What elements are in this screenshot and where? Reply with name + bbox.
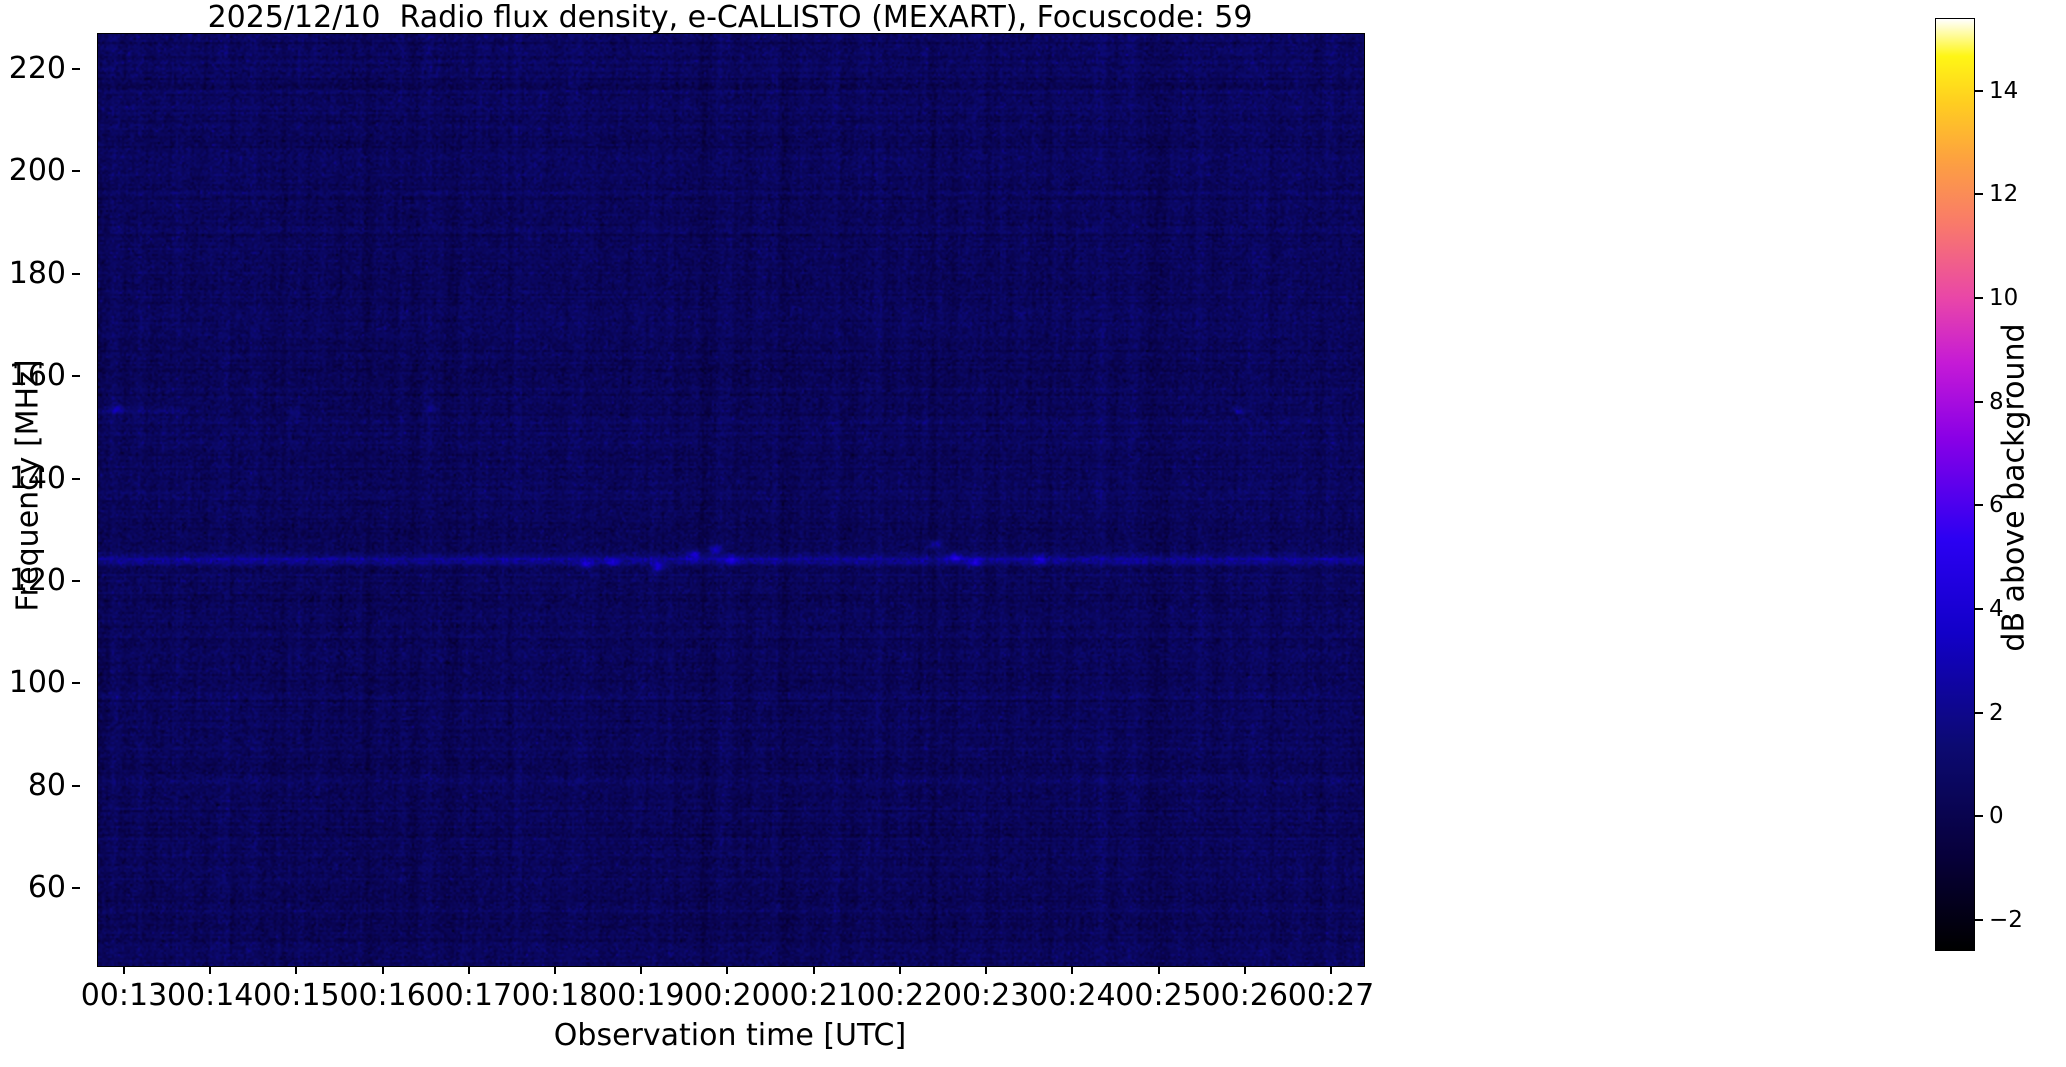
y-axis-tick-label: 200 [9, 152, 66, 190]
colorbar-tick-label: 14 [1989, 76, 2018, 106]
x-axis-tick-mark [123, 966, 125, 974]
colorbar-tick-label: 10 [1989, 283, 2018, 313]
colorbar-tick-label: 2 [1989, 698, 2004, 728]
x-axis-tick-mark [985, 966, 987, 974]
colorbar-tick-label: 12 [1989, 179, 2018, 209]
x-axis-tick-mark [1158, 966, 1160, 974]
colorbar-tick-mark [1975, 712, 1983, 714]
y-axis-tick-label: 220 [9, 50, 66, 88]
x-axis-tick-mark [813, 966, 815, 974]
x-axis-tick-mark [295, 966, 297, 974]
colorbar-tick-label: 0 [1989, 801, 2004, 831]
x-axis-tick-mark [899, 966, 901, 974]
y-axis-tick-mark [72, 375, 80, 377]
x-axis-tick-label: 00:27 [1261, 978, 1401, 1014]
x-axis-tick-mark [640, 966, 642, 974]
colorbar-tick-mark [1975, 919, 1983, 921]
y-axis-tick-mark [72, 170, 80, 172]
y-axis-tick-mark [72, 580, 80, 582]
colorbar-tick-mark [1975, 608, 1983, 610]
colorbar-label: dB above background [1997, 258, 2032, 718]
x-axis-tick-mark [726, 966, 728, 974]
y-axis-tick-mark [72, 68, 80, 70]
colorbar-tick-mark [1975, 815, 1983, 817]
colorbar-tick-mark [1975, 90, 1983, 92]
y-axis-tick-mark [72, 785, 80, 787]
colorbar-tick-mark [1975, 297, 1983, 299]
colorbar-tick-mark [1975, 193, 1983, 195]
y-axis-tick-mark [72, 887, 80, 889]
x-axis-tick-mark [468, 966, 470, 974]
x-axis-tick-mark [209, 966, 211, 974]
spectrogram-image [98, 34, 1364, 966]
colorbar-gradient [1935, 18, 1975, 951]
spectrogram-plot-area [97, 33, 1365, 967]
colorbar-tick-label: 8 [1989, 387, 2004, 417]
x-axis-tick-mark [382, 966, 384, 974]
colorbar: dB above background 14121086420−2 [1935, 18, 2065, 951]
page-title: 2025/12/10 Radio flux density, e-CALLIST… [97, 2, 1363, 34]
x-axis-label: Observation time [UTC] [97, 1018, 1363, 1053]
y-axis-label: Frequency [MHz] [11, 236, 46, 736]
x-axis-tick-mark [1330, 966, 1332, 974]
x-axis-tick-mark [1244, 966, 1246, 974]
y-axis-tick-mark [72, 682, 80, 684]
colorbar-tick-label: −2 [1989, 905, 2023, 935]
colorbar-tick-label: 4 [1989, 594, 2004, 624]
colorbar-tick-label: 6 [1989, 490, 2004, 520]
colorbar-tick-mark [1975, 504, 1983, 506]
x-axis-tick-mark [1071, 966, 1073, 974]
x-axis-tick-mark [554, 966, 556, 974]
y-axis-tick-label: 60 [28, 869, 66, 907]
y-axis-tick-mark [72, 273, 80, 275]
y-axis-tick-label: 80 [28, 767, 66, 805]
y-axis-tick-mark [72, 478, 80, 480]
colorbar-tick-mark [1975, 401, 1983, 403]
